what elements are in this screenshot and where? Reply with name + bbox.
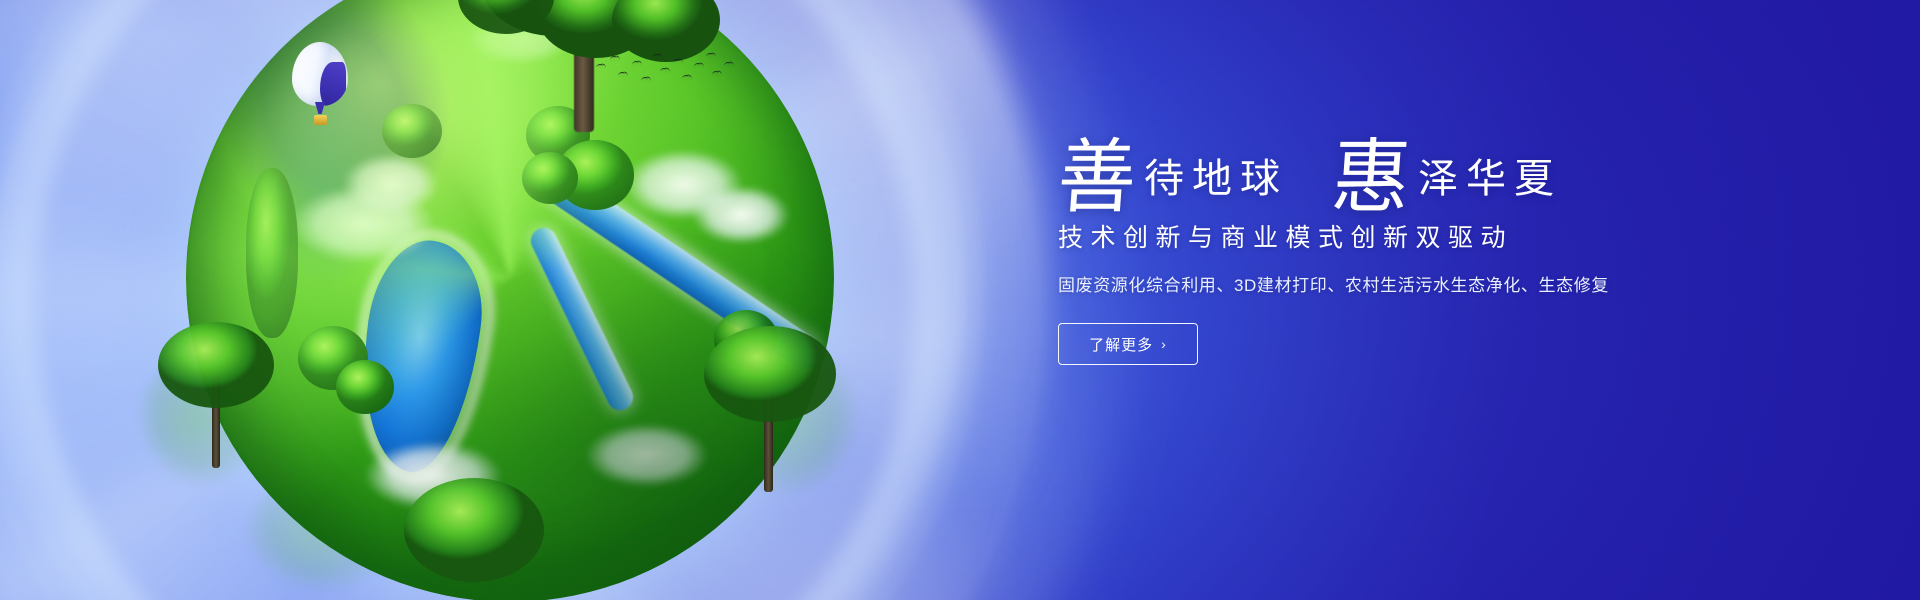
- headline-small-text-2: 泽华夏: [1418, 159, 1562, 199]
- balloon-gore: [320, 62, 346, 106]
- headline: 善 待地球 惠 泽华夏: [1058, 138, 1758, 205]
- side-tree-right-canopy: [704, 326, 836, 422]
- bird-icon: [724, 62, 731, 67]
- headline-small-text-1: 待地球: [1144, 159, 1288, 199]
- learn-more-button[interactable]: 了解更多 ›: [1058, 323, 1198, 365]
- bird-icon: [641, 77, 648, 82]
- chevron-right-icon: ›: [1161, 337, 1167, 351]
- bird-icon: [610, 56, 617, 61]
- bird-icon: [652, 54, 659, 59]
- side-tree-bottom: [404, 478, 554, 600]
- bird-icon: [673, 59, 680, 64]
- bird-icon: [706, 53, 713, 58]
- hero-banner: 善 待地球 惠 泽华夏 技术创新与商业模式创新双驱动 固废资源化综合利用、3D建…: [0, 0, 1920, 600]
- side-tree-left-canopy: [158, 322, 274, 408]
- bird-icon: [682, 75, 689, 80]
- balloon-basket: [314, 115, 327, 125]
- headline-group-2: 惠 泽华夏: [1332, 138, 1562, 205]
- side-tree-bottom-canopy: [404, 478, 544, 582]
- learn-more-label: 了解更多: [1089, 334, 1153, 355]
- side-tree-left: [152, 316, 282, 476]
- hot-air-balloon: [292, 42, 352, 128]
- headline-big-char-2: 惠: [1330, 143, 1413, 213]
- headline-group-1: 善 待地球: [1058, 138, 1288, 205]
- headline-big-char-1: 善: [1056, 143, 1139, 213]
- balloon-envelope: [292, 42, 348, 106]
- bird-icon: [596, 64, 603, 69]
- balloon-neck: [315, 102, 325, 114]
- subtitle: 技术创新与商业模式创新双驱动: [1058, 223, 1758, 253]
- bird-icon: [618, 72, 625, 77]
- hero-copy: 善 待地球 惠 泽华夏 技术创新与商业模式创新双驱动 固废资源化综合利用、3D建…: [1058, 138, 1758, 365]
- bird-flock: [594, 50, 732, 90]
- bird-icon: [660, 68, 667, 73]
- bird-icon: [694, 63, 701, 68]
- bird-icon: [712, 71, 719, 76]
- bird-icon: [632, 61, 639, 66]
- side-tree-right: [700, 322, 850, 502]
- tagline: 固废资源化综合利用、3D建材打印、农村生活污水生态净化、生态修复: [1058, 275, 1758, 297]
